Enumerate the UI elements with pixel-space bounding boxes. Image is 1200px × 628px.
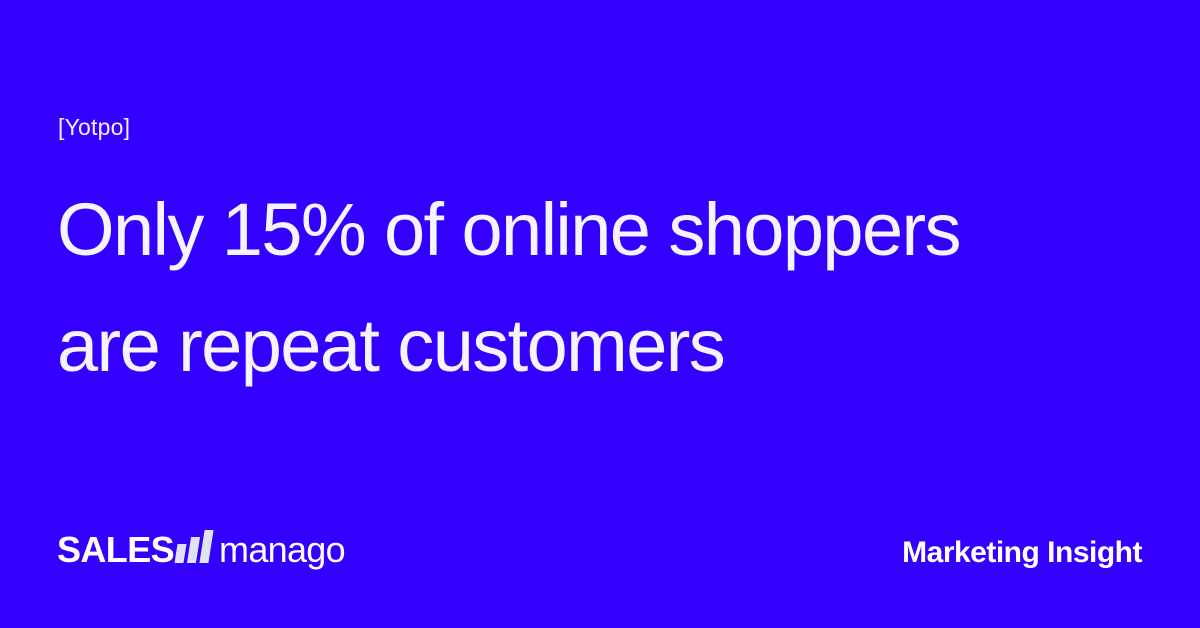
source-attribution: [Yotpo] [58,112,130,142]
headline: Only 15% of online shoppers are repeat c… [57,172,1117,404]
card-footer: SALES manago Marketing Insight [0,528,1200,584]
bar-1 [175,544,187,563]
three-ascending-bars-icon [175,529,217,563]
bar-2 [187,537,200,563]
bar-3 [199,530,213,563]
logo-wordmark-secondary: manago [219,530,345,570]
headline-line-1: Only 15% of online shoppers [57,172,1117,288]
marketing-insight-card: [Yotpo] Only 15% of online shoppers are … [0,0,1200,628]
headline-line-2: are repeat customers [57,288,1117,404]
series-label: Marketing Insight [902,536,1142,570]
salesmanago-logo: SALES manago [57,528,345,574]
logo-wordmark-primary: SALES [57,530,174,570]
